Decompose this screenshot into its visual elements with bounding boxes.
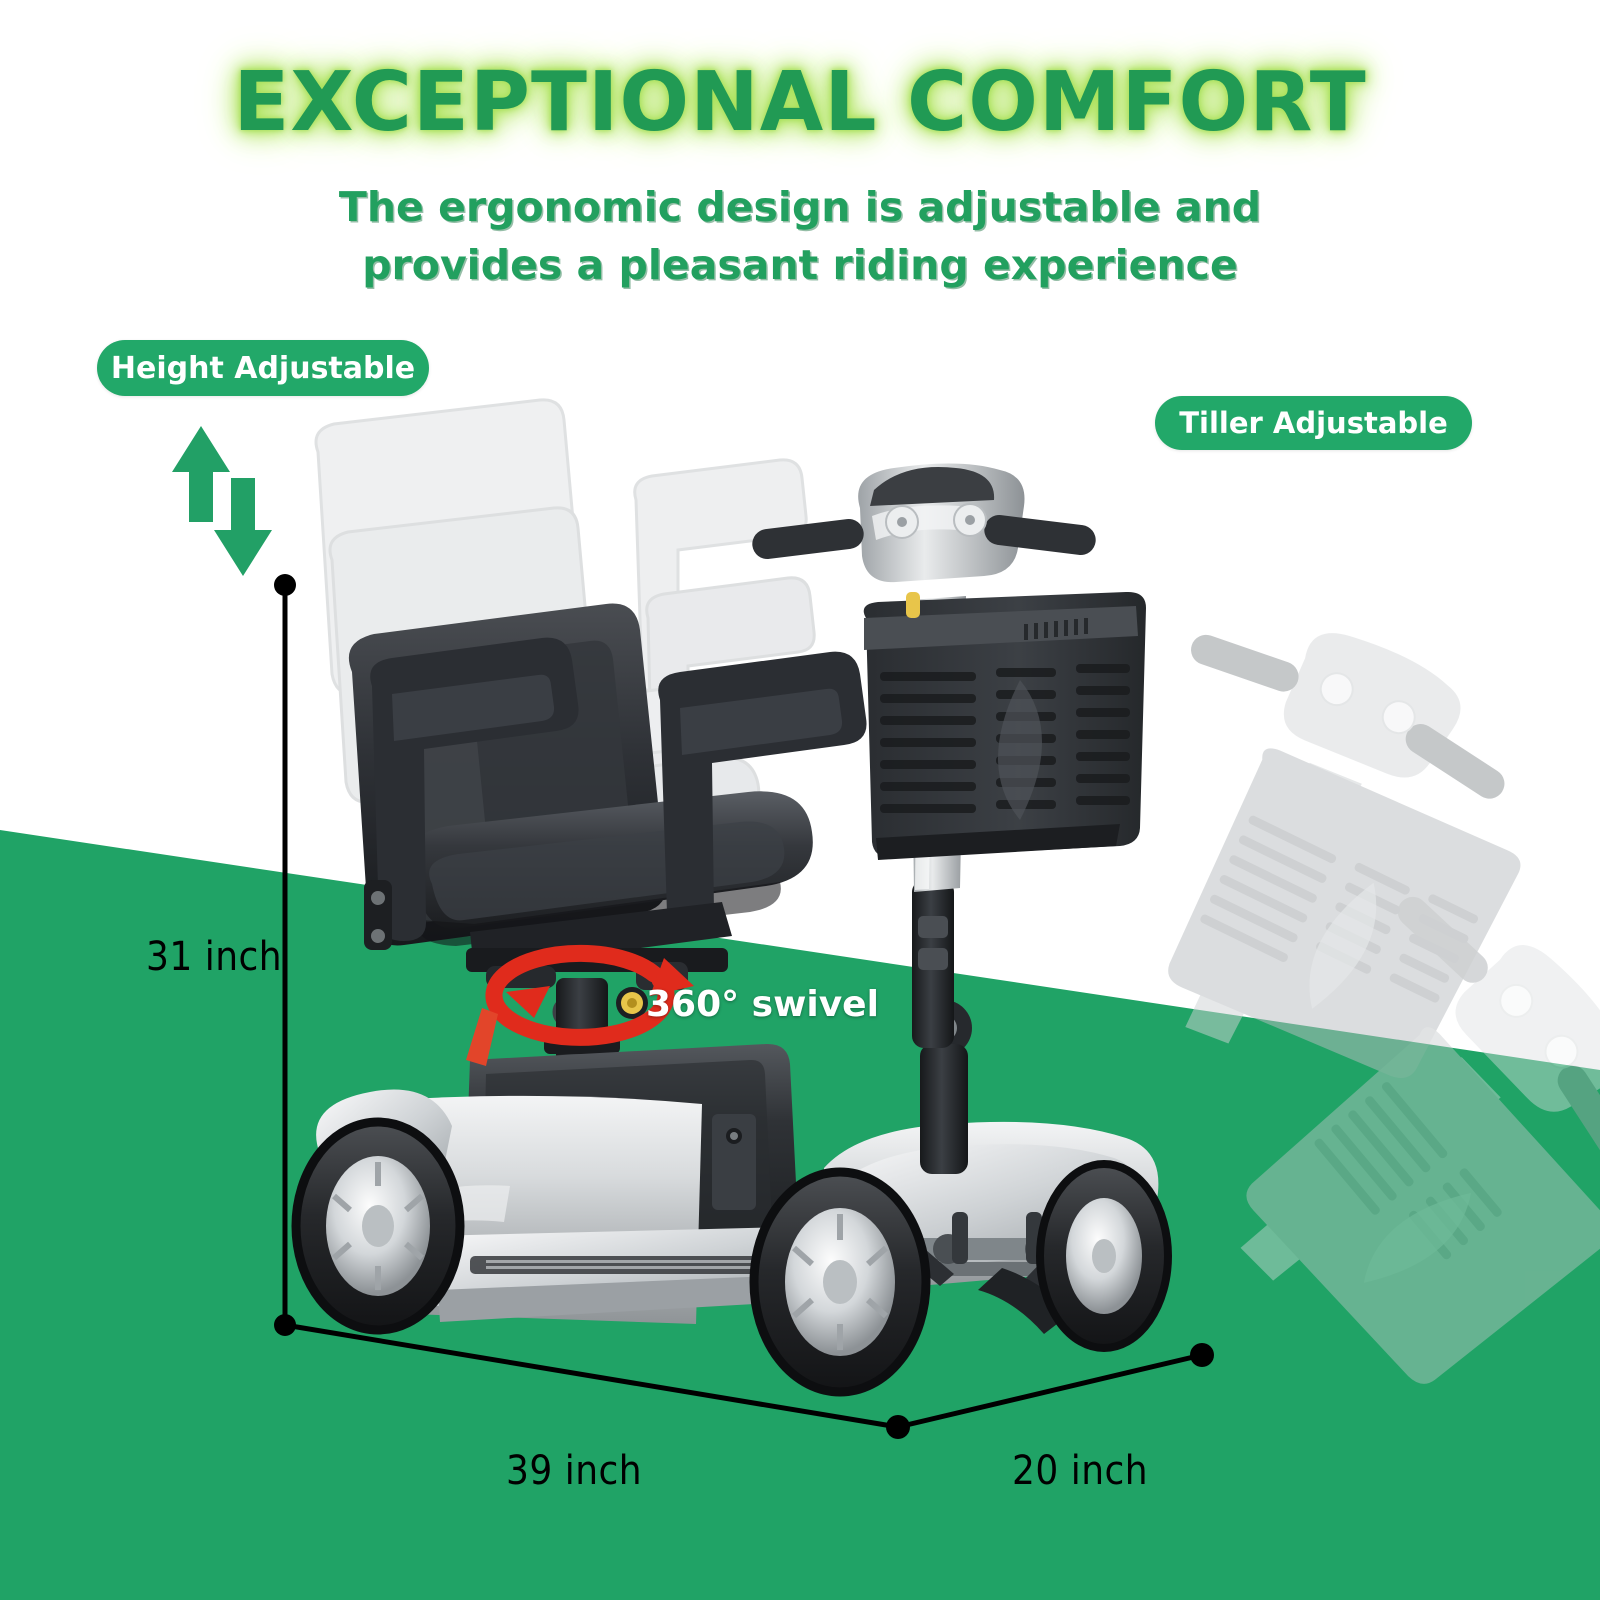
- subheadline-line-1: The ergonomic design is adjustable and: [300, 178, 1300, 236]
- ghost-seat-positions: [316, 400, 814, 940]
- headline-container: EXCEPTIONAL COMFORT: [0, 55, 1600, 150]
- swivel-annotation-label: 360° swivel: [646, 984, 879, 1025]
- dimension-label-width: 20 inch: [1012, 1448, 1148, 1494]
- badge-height-adjustable[interactable]: Height Adjustable: [97, 340, 429, 396]
- badge-tiller-adjustable-label: Tiller Adjustable: [1179, 406, 1448, 440]
- badge-height-adjustable-label: Height Adjustable: [111, 351, 415, 386]
- dimension-label-length: 39 inch: [506, 1448, 642, 1494]
- front-basket: [864, 592, 1146, 860]
- dimension-label-height: 31 inch: [146, 934, 282, 980]
- infographic-canvas: EXCEPTIONAL COMFORT The ergonomic design…: [0, 0, 1600, 1600]
- subheadline-line-2: provides a pleasant riding experience: [300, 236, 1300, 294]
- height-adjust-arrows: [168, 420, 280, 580]
- arrow-up-icon: [172, 426, 230, 522]
- page-title: EXCEPTIONAL COMFORT: [233, 55, 1366, 150]
- badge-tiller-adjustable[interactable]: Tiller Adjustable: [1155, 396, 1472, 450]
- arrow-down-icon: [214, 478, 272, 576]
- handlebar-assembly: [751, 463, 1098, 618]
- subheadline: The ergonomic design is adjustable and p…: [300, 178, 1300, 294]
